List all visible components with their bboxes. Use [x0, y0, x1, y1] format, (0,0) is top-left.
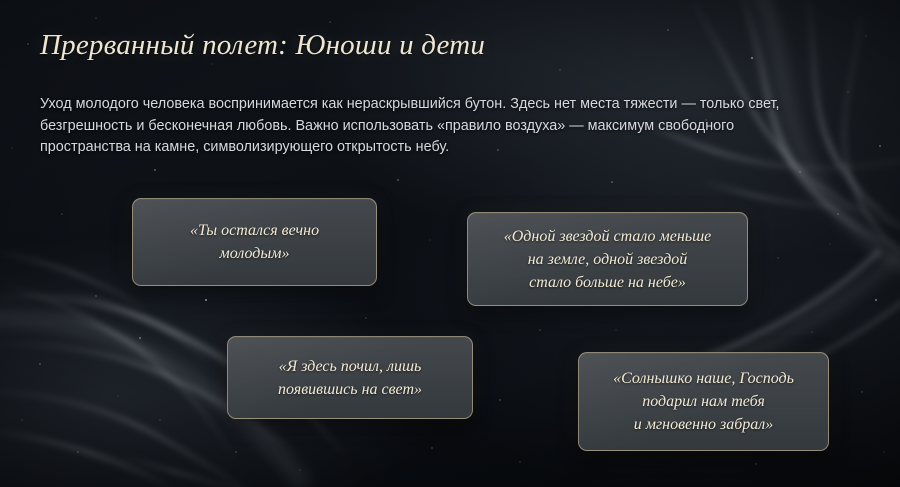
quote-card[interactable]: «Одной звездой стало меньше на земле, од…	[467, 212, 748, 306]
quote-card-text: «Одной звездой стало меньше на земле, од…	[490, 225, 726, 294]
intro-paragraph: Уход молодого человека воспринимается ка…	[40, 94, 824, 159]
quote-card-text: «Ты остался вечно молодым»	[176, 219, 333, 265]
slide-content: Прерванный полет: Юноши и дети Уход моло…	[0, 0, 900, 487]
quote-card[interactable]: «Я здесь почил, лишь появившись на свет»	[227, 336, 473, 419]
quote-card-text: «Солнышко наше, Господь подарил нам тебя…	[599, 367, 808, 436]
quote-card-text: «Я здесь почил, лишь появившись на свет»	[264, 355, 436, 401]
quote-card[interactable]: «Солнышко наше, Господь подарил нам тебя…	[578, 352, 829, 451]
page-title: Прерванный полет: Юноши и дети	[40, 28, 485, 63]
slide-root: Прерванный полет: Юноши и дети Уход моло…	[0, 0, 900, 487]
quote-card[interactable]: «Ты остался вечно молодым»	[132, 198, 377, 286]
